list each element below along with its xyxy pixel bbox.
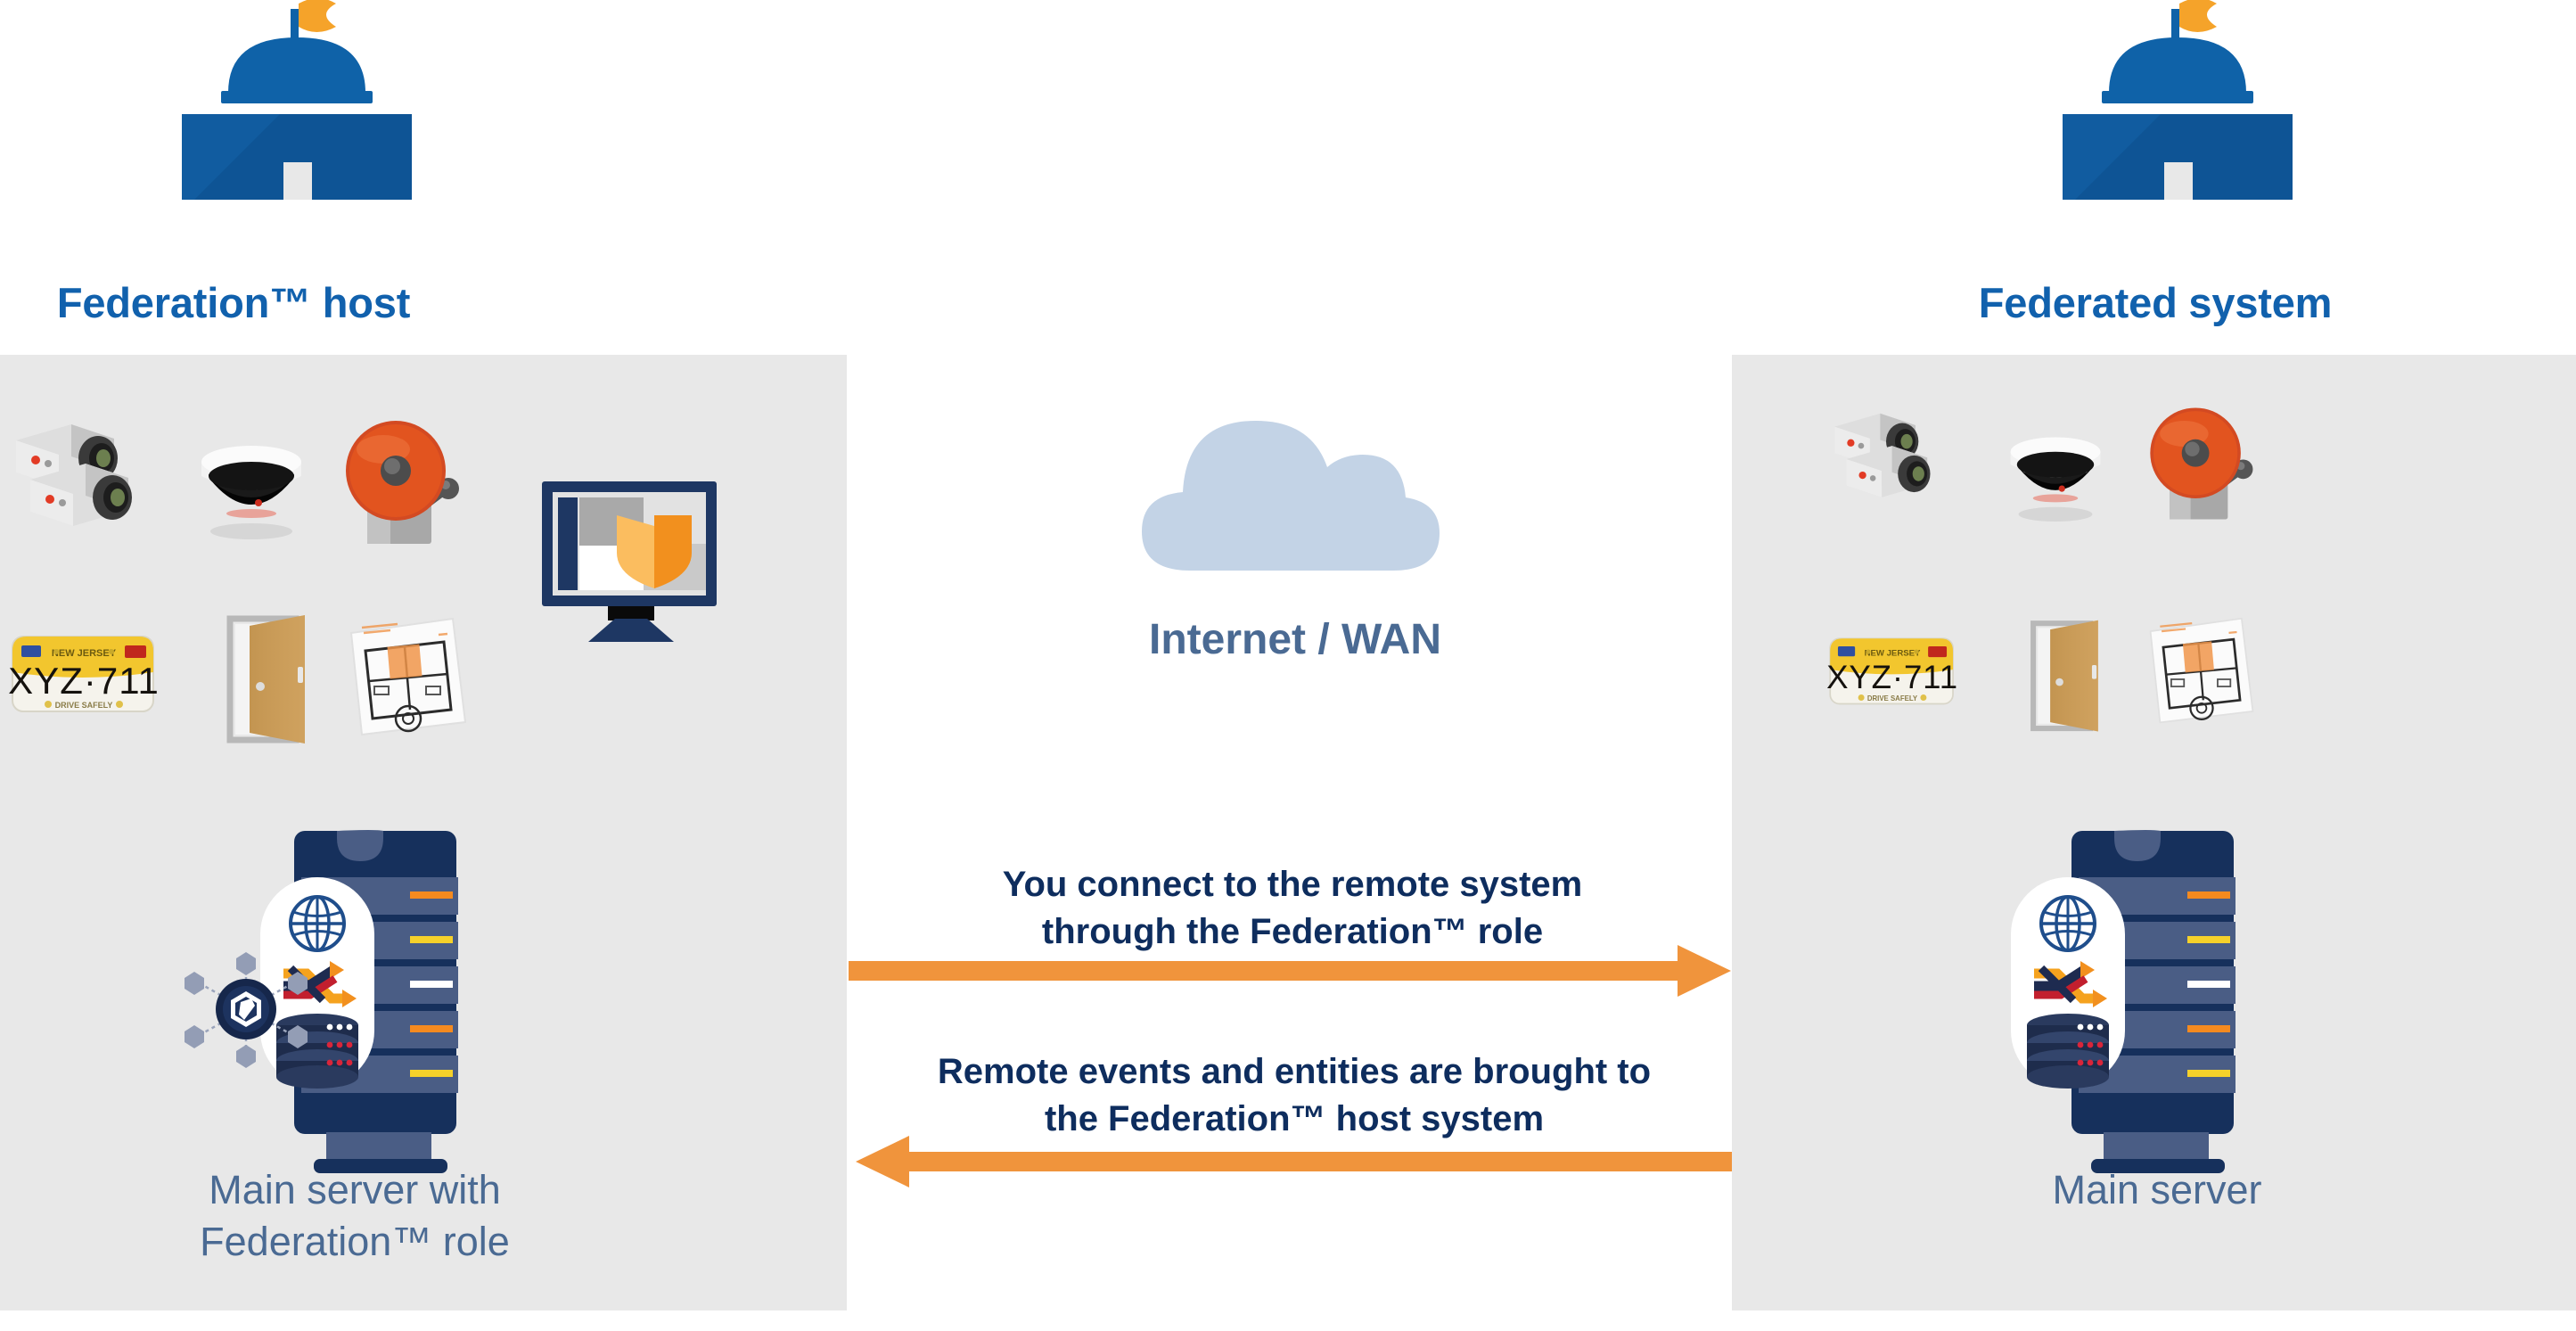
left-server-label: Main server with Federation™ role	[70, 1164, 640, 1267]
license-plate-icon: NEW JERSEY XYZ·711 DRIVE SAFELY	[1825, 628, 1959, 713]
federated-system-heading: Federated system	[1906, 278, 2405, 327]
license-plate-state: NEW JERSEY	[1865, 648, 1921, 658]
flow-back-line1: Remote events and entities are brought t…	[849, 1048, 1740, 1096]
capitol-building-svg	[2030, 0, 2325, 228]
dome-camera-icon	[189, 428, 314, 544]
smart-client-monitor-icon	[538, 476, 726, 654]
flow-forward-line1: You connect to the remote system	[869, 861, 1716, 908]
left-server-label-line2: Federation™ role	[70, 1216, 640, 1268]
dome-camera-icon	[1999, 421, 2112, 526]
box-cameras-icon	[7, 412, 150, 537]
right-server-label: Main server	[1890, 1164, 2424, 1216]
alarm-bell-icon	[2136, 403, 2257, 524]
door-icon	[2016, 619, 2109, 735]
floor-plan-map-icon	[339, 615, 478, 740]
capitol-building-svg	[150, 0, 444, 228]
license-plate-icon: NEW JERSEY XYZ·711 DRIVE SAFELY	[7, 624, 160, 722]
flow-back-text: Remote events and entities are brought t…	[849, 1048, 1740, 1143]
flow-forward-text: You connect to the remote system through…	[869, 861, 1716, 956]
license-plate-slogan: DRIVE SAFELY	[55, 701, 113, 710]
federation-host-heading: Federation™ host	[0, 278, 483, 327]
flag-icon	[2179, 0, 2217, 32]
box-cameras-icon	[1827, 401, 1945, 508]
federation-node-badge-icon	[166, 933, 326, 1084]
door-icon	[210, 613, 317, 747]
right-server-label-line1: Main server	[1890, 1164, 2424, 1216]
globe-icon	[2041, 897, 2095, 950]
capitol-building-icon	[2030, 0, 2325, 228]
arrow-left-icon	[849, 1134, 1740, 1189]
database-icon	[2027, 1014, 2109, 1089]
left-server-label-line1: Main server with	[70, 1164, 640, 1216]
flag-icon	[299, 0, 336, 32]
cloud-icon	[1108, 401, 1482, 579]
license-plate-number: XYZ·711	[8, 660, 160, 702]
main-server-rack-icon	[1948, 809, 2305, 1184]
capitol-building-icon	[150, 0, 444, 228]
license-plate-state: NEW JERSEY	[52, 648, 117, 659]
license-plate-slogan: DRIVE SAFELY	[1867, 694, 1918, 702]
floor-plan-map-icon	[2139, 615, 2264, 727]
cloud-label: Internet / WAN	[1063, 615, 1527, 664]
alarm-bell-icon	[330, 415, 464, 549]
license-plate-number: XYZ·711	[1826, 659, 1958, 695]
arrow-right-icon	[849, 943, 1740, 998]
